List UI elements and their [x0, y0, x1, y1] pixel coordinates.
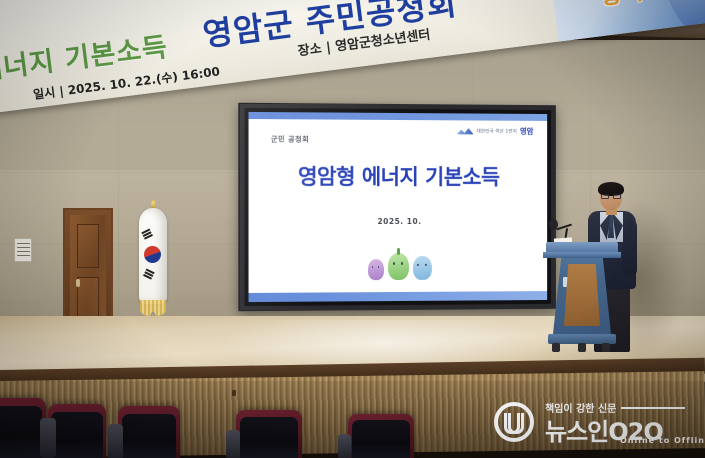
glasses-icon — [601, 194, 621, 199]
slide-top-accent-bar — [249, 112, 548, 121]
trigram-bottom-left — [142, 269, 154, 282]
side-door[interactable] — [63, 208, 113, 328]
door-inset-top — [77, 224, 99, 268]
podium-caster — [578, 343, 586, 352]
wall-notice-sign — [14, 238, 32, 262]
slide-title: 영암형 에너지 기본소득 — [249, 160, 548, 191]
audience-seat — [118, 406, 180, 458]
yeongam-mascot-logo: 영암이 좋아요 — [564, 0, 705, 23]
seat-armrest — [226, 430, 240, 458]
slide-mascot-group — [249, 252, 548, 280]
podium-caster — [602, 343, 610, 352]
door-panel — [70, 215, 106, 323]
stage-panel-fixing — [232, 390, 236, 396]
podium-caster — [552, 343, 560, 352]
watermark-rule — [621, 407, 685, 409]
press-photo-scene: 대한민국 혁신 1번지 영암 군민 공청회 영암형 에너지 기본소득 2025.… — [0, 0, 705, 458]
seat-armrest — [40, 418, 56, 458]
presentation-slide: 대한민국 혁신 1번지 영암 군민 공청회 영암형 에너지 기본소득 2025.… — [249, 112, 548, 302]
slide-county-logo: 대한민국 혁신 1번지 영암 — [457, 125, 534, 136]
seat-armrest — [338, 434, 351, 458]
audience-seat — [48, 404, 106, 458]
projection-screen: 대한민국 혁신 1번지 영암 군민 공청회 영암형 에너지 기본소득 2025.… — [238, 103, 556, 311]
blue-mascot-icon — [412, 256, 431, 280]
podium-lip — [543, 252, 621, 258]
slide-date: 2025. 10. — [249, 217, 548, 226]
audience-seat — [348, 414, 414, 458]
news-watermark: 책임이 강한 신문 뉴스인O2O Online to Offline — [492, 392, 697, 450]
slide-bottom-accent-bar — [249, 291, 548, 302]
screen-bezel: 대한민국 혁신 1번지 영암 군민 공청회 영암형 에너지 기본소득 2025.… — [244, 108, 551, 306]
logo-line-2: 좋아요 — [597, 0, 667, 12]
seat-armrest — [108, 424, 123, 458]
podium — [546, 242, 618, 364]
microphone-icon — [549, 219, 558, 230]
newsin-logo-icon — [494, 402, 534, 442]
green-mascot-icon — [388, 253, 409, 280]
taeguk-symbol — [144, 246, 161, 263]
slide-logo-name: 영암 — [520, 126, 534, 137]
trigram-top-left — [141, 229, 153, 242]
audience-seat — [236, 410, 302, 458]
slide-logo-subtext: 대한민국 혁신 1번지 — [477, 128, 517, 134]
watermark-subtitle: Online to Offline — [620, 436, 705, 445]
mountain-logo-icon — [457, 127, 474, 134]
taegukgi-flag-icon — [139, 208, 167, 304]
podium-wood-inlay — [564, 264, 600, 326]
slide-kicker: 군민 공청회 — [271, 134, 309, 144]
speaker-arm — [623, 220, 637, 276]
door-handle[interactable] — [76, 279, 80, 287]
purple-mascot-icon — [367, 259, 383, 280]
sprout-icon — [397, 248, 400, 255]
